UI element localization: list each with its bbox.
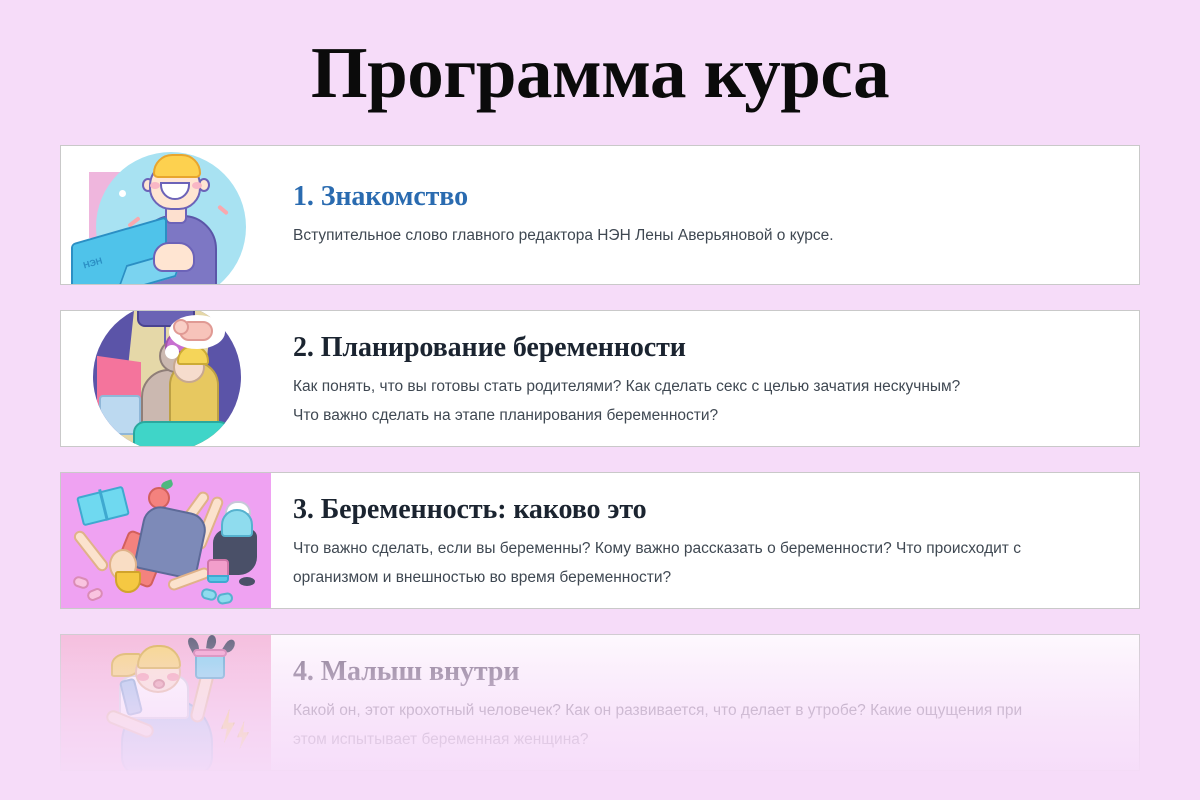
module-2-body: 2. Планирование беременности Как понять,… — [271, 311, 1139, 446]
module-card-2[interactable]: 2. Планирование беременности Как понять,… — [60, 310, 1140, 447]
falling-schoolgirl-illustration — [61, 473, 271, 608]
module-3-body: 3. Беременность: каково это Что важно сд… — [271, 473, 1139, 608]
module-list: НЭН 1. Знакомство Вступительное слово гл… — [60, 145, 1140, 796]
module-card-4[interactable]: 4. Малыш внутри Какой он, этот крохотный… — [60, 634, 1140, 771]
couple-embracing-illustration — [61, 311, 271, 446]
module-1-heading: 1. Знакомство — [293, 180, 1109, 214]
module-3-description: Что важно сделать, если вы беременны? Ко… — [293, 534, 1033, 592]
module-4-heading: 4. Малыш внутри — [293, 655, 1109, 689]
module-3-media — [61, 473, 271, 608]
page-title: Программа курса — [0, 30, 1200, 116]
module-2-description: Как понять, что вы готовы стать родителя… — [293, 372, 983, 430]
module-card-3[interactable]: 3. Беременность: каково это Что важно сд… — [60, 472, 1140, 609]
course-program-page: Программа курса — [0, 0, 1200, 800]
module-2-media — [61, 311, 271, 446]
person-at-laptop-illustration: НЭН — [61, 146, 271, 284]
module-3-heading: 3. Беременность: каково это — [293, 493, 1109, 527]
module-2-heading: 2. Планирование беременности — [293, 331, 1109, 365]
module-1-body: 1. Знакомство Вступительное слово главно… — [271, 146, 1139, 284]
module-4-body: 4. Малыш внутри Какой он, этот крохотный… — [271, 635, 1139, 770]
module-4-description: Какой он, этот крохотный человечек? Как … — [293, 696, 1033, 754]
module-1-description: Вступительное слово главного редактора Н… — [293, 221, 893, 250]
module-4-media — [61, 635, 271, 770]
module-1-media: НЭН — [61, 146, 271, 284]
pregnant-woman-drinking-illustration — [61, 635, 271, 770]
module-card-1[interactable]: НЭН 1. Знакомство Вступительное слово гл… — [60, 145, 1140, 285]
